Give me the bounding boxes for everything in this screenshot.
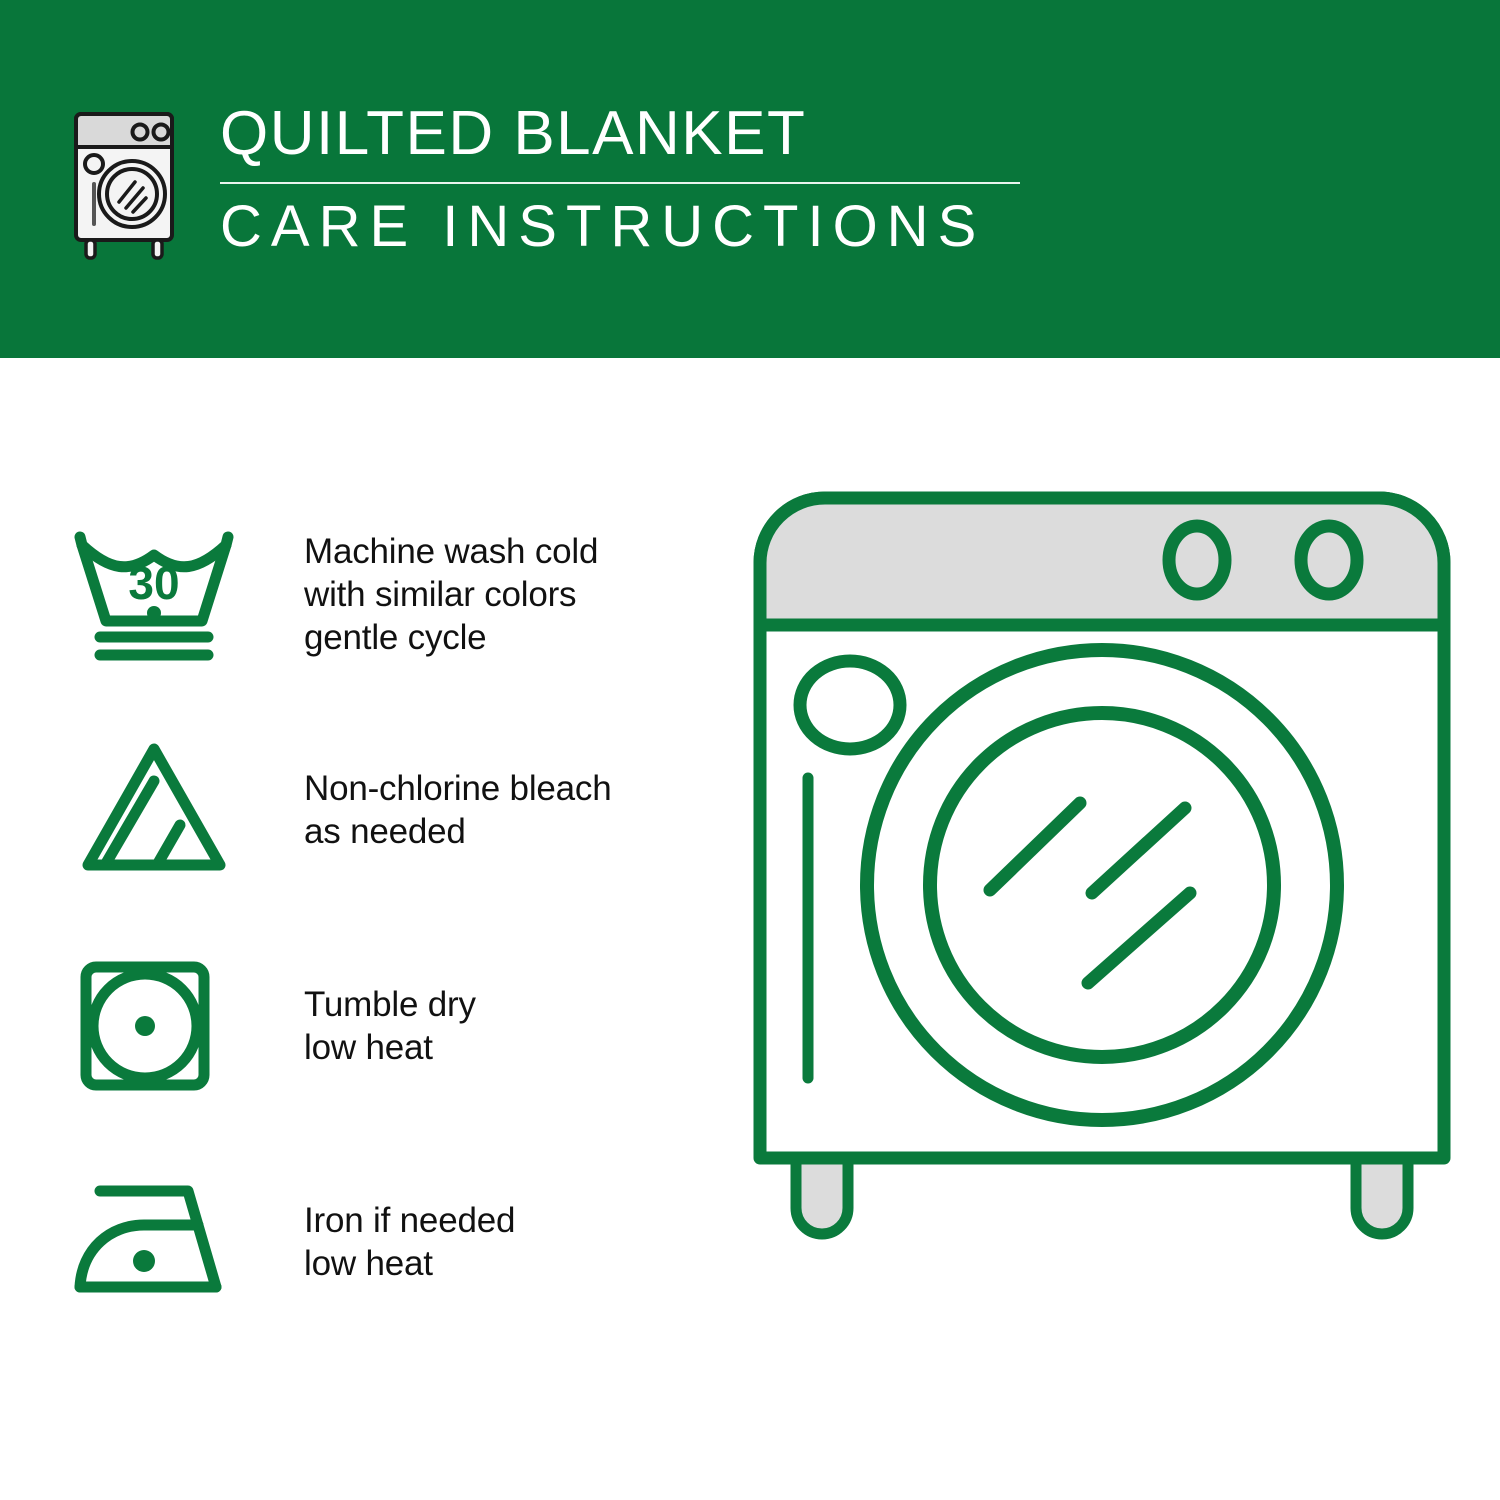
care-instruction-list: 30 Machine wash cold with similar colors… bbox=[70, 508, 710, 1328]
care-text-line: Iron if needed bbox=[304, 1199, 515, 1242]
care-text-line: gentle cycle bbox=[304, 616, 598, 659]
care-text-line: Non-chlorine bleach bbox=[304, 767, 612, 810]
care-text-line: low heat bbox=[304, 1026, 476, 1069]
wash-temperature-label: 30 bbox=[128, 557, 179, 609]
title-divider bbox=[220, 182, 1020, 184]
header-content: QUILTED BLANKET CARE INSTRUCTIONS bbox=[62, 98, 1062, 278]
care-text-line: low heat bbox=[304, 1242, 515, 1285]
care-text-wash: Machine wash cold with similar colors ge… bbox=[240, 530, 598, 659]
care-row-wash: 30 Machine wash cold with similar colors… bbox=[70, 508, 710, 680]
care-text-bleach: Non-chlorine bleach as needed bbox=[240, 767, 612, 853]
care-row-tumble-dry: Tumble dry low heat bbox=[70, 940, 710, 1112]
care-text-tumble-dry: Tumble dry low heat bbox=[240, 983, 476, 1069]
tumble-dry-low-icon bbox=[70, 951, 240, 1101]
front-load-washing-machine-illustration bbox=[740, 478, 1480, 1428]
care-row-iron: Iron if needed low heat bbox=[70, 1156, 710, 1328]
non-chlorine-bleach-triangle-icon bbox=[70, 735, 240, 885]
content-area: 30 Machine wash cold with similar colors… bbox=[0, 358, 1500, 1500]
washing-machine-logo-icon bbox=[62, 106, 190, 266]
control-panel bbox=[760, 498, 1444, 625]
care-text-line: Machine wash cold bbox=[304, 530, 598, 573]
wash-basin-30-icon: 30 bbox=[70, 519, 240, 669]
page-title: QUILTED BLANKET bbox=[220, 98, 1070, 170]
title-stack: QUILTED BLANKET CARE INSTRUCTIONS bbox=[220, 98, 1070, 260]
care-text-line: as needed bbox=[304, 810, 612, 853]
header-banner: QUILTED BLANKET CARE INSTRUCTIONS bbox=[0, 0, 1500, 358]
page-subtitle: CARE INSTRUCTIONS bbox=[220, 194, 1070, 260]
care-text-iron: Iron if needed low heat bbox=[240, 1199, 515, 1285]
care-text-line: Tumble dry bbox=[304, 983, 476, 1026]
iron-low-heat-icon bbox=[70, 1167, 240, 1317]
care-text-line: with similar colors bbox=[304, 573, 598, 616]
care-row-bleach: Non-chlorine bleach as needed bbox=[70, 724, 710, 896]
